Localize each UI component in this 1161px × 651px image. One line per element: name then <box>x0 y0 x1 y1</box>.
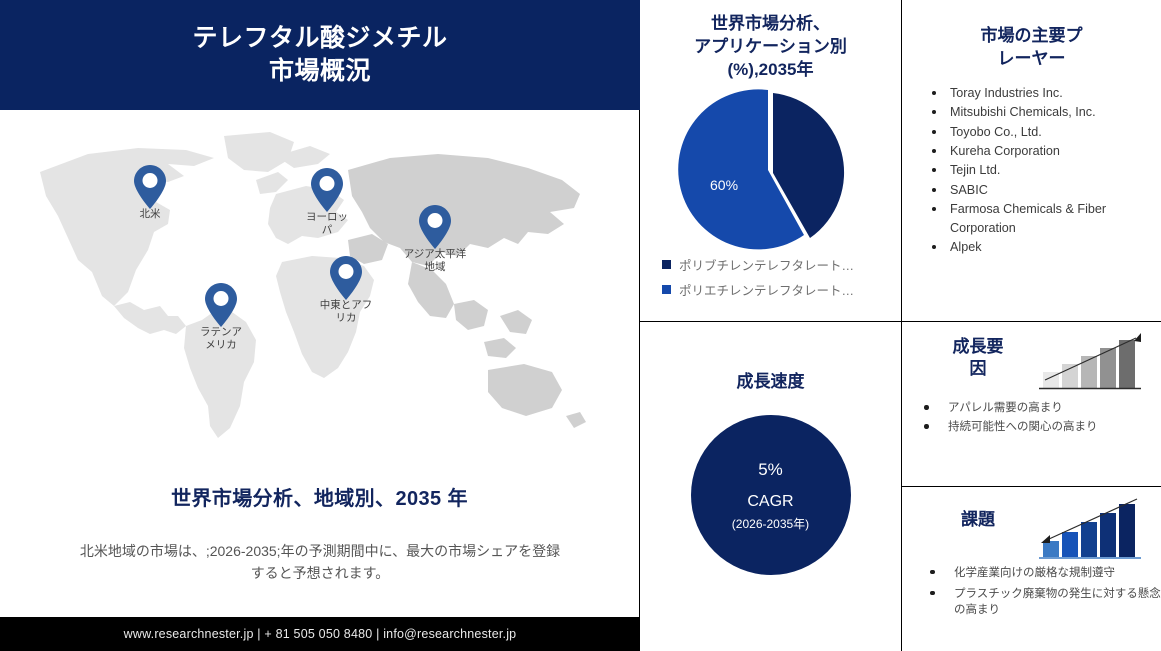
legend-label: ポリブチレンテレフタレート… <box>679 255 854 274</box>
map-pin-label: アジア太平洋地域 <box>400 248 470 274</box>
legend-item[interactable]: ポリブチレンテレフタレート… <box>662 255 888 274</box>
list-item: 持続可能性への関心の高まり <box>902 419 1161 435</box>
pie-slice-value-label: 60% <box>710 177 738 193</box>
challenges-title: 課題 <box>932 509 1024 531</box>
key-players-panel: 市場の主要プ レーヤー Toray Industries Inc. Mitsub… <box>901 0 1161 322</box>
list-item: Tejin Ltd. <box>928 161 1161 180</box>
players-title-line2: レーヤー <box>948 47 1115 70</box>
legend-swatch-icon <box>662 285 671 294</box>
list-item: プラスチック廃棄物の発生に対する懸念の高まり <box>902 586 1161 619</box>
list-item: 化学産業向けの厳格な規制遵守 <box>902 565 1161 581</box>
page-title: テレフタル酸ジメチル 市場概況 <box>192 22 447 89</box>
map-pin-europe[interactable]: ヨーロッパ <box>310 167 344 213</box>
page-title-line2: 市場概況 <box>192 55 447 89</box>
pie-title-line2: アプリケーション別 <box>662 35 879 58</box>
pie-panel-title: 世界市場分析、 アプリケーション別 (%),2035年 <box>662 12 879 81</box>
legend-swatch-icon <box>662 260 671 269</box>
pie-title-line3: (%),2035年 <box>662 58 879 81</box>
list-item: Mitsubishi Chemicals, Inc. <box>928 103 1161 122</box>
challenges-panel: 課題 化学産業向けの厳格な規制遵守 プラスチック廃棄物の発生に対する懸念の高まり <box>902 487 1161 651</box>
map-pin-middle-east-africa[interactable]: 中東とアフリカ <box>329 255 363 301</box>
players-title-line1: 市場の主要プ <box>948 24 1115 47</box>
growth-rate-title: 成長速度 <box>640 370 901 393</box>
drivers-title-line2: 因 <box>932 358 1024 380</box>
pie-title-line1: 世界市場分析、 <box>662 12 879 35</box>
map-pin-label: ヨーロッパ <box>301 211 353 237</box>
growth-drivers-list: アパレル需要の高まり 持続可能性への関心の高まり <box>902 400 1161 436</box>
cagr-circle-wrap: 5% CAGR (2026-2035年) <box>640 415 901 575</box>
pie-legend: ポリブチレンテレフタレート… ポリエチレンテレフタレート… <box>662 255 888 305</box>
region-analysis-heading: 世界市場分析、地域別、2035 年 <box>0 482 639 511</box>
growth-bar-chart-icon <box>1037 328 1147 394</box>
key-players-list: Toray Industries Inc. Mitsubishi Chemica… <box>928 84 1161 257</box>
list-item-continuation: Corporation <box>928 219 1161 238</box>
list-item: Toray Industries Inc. <box>928 84 1161 103</box>
application-pie-panel: 世界市場分析、 アプリケーション別 (%),2035年 60% ポリブチレンテレ… <box>640 0 902 322</box>
left-column: テレフタル酸ジメチル 市場概況 <box>0 0 640 651</box>
map-pin-icon <box>310 167 344 213</box>
list-item: アパレル需要の高まり <box>902 400 1161 416</box>
challenges-list: 化学産業向けの厳格な規制遵守 プラスチック廃棄物の発生に対する懸念の高まり <box>902 565 1161 619</box>
map-pin-icon <box>204 282 238 328</box>
map-pin-icon <box>329 255 363 301</box>
list-item: Farmosa Chemicals & Fiber <box>928 200 1161 219</box>
challenges-bar-chart-icon <box>1037 493 1147 565</box>
map-pin-icon <box>418 204 452 250</box>
map-pin-icon <box>133 164 167 210</box>
legend-label: ポリエチレンテレフタレート… <box>679 280 854 299</box>
players-panel-title: 市場の主要プ レーヤー <box>948 24 1115 70</box>
list-item: SABIC <box>928 181 1161 200</box>
growth-drivers-panel: 成長要 因 アパレル需要の高まり 持続可能性への関心の高まり <box>902 322 1161 487</box>
map-pin-asia-pacific[interactable]: アジア太平洋地域 <box>418 204 452 250</box>
pie-chart: 60% <box>640 85 901 255</box>
world-map: 北米 ヨーロッパ アジア太平洋地域 <box>0 112 639 472</box>
cagr-period: (2026-2035年) <box>732 518 809 530</box>
map-pin-latin-america[interactable]: ラテンアメリカ <box>204 282 238 328</box>
drivers-challenges-stack: 成長要 因 アパレル需要の高まり 持続可能性への関心の高まり <box>901 321 1161 651</box>
cagr-metric-label: CAGR <box>747 494 793 510</box>
infographic-page: テレフタル酸ジメチル 市場概況 <box>0 0 1161 651</box>
list-item: Kureha Corporation <box>928 142 1161 161</box>
cagr-circle: 5% CAGR (2026-2035年) <box>691 415 851 575</box>
growth-rate-panel: 成長速度 5% CAGR (2026-2035年) <box>640 321 902 651</box>
region-analysis-description: 北米地域の市場は、;2026-2035;年の予測期間中に、最大の市場シェアを登録… <box>78 540 562 585</box>
list-item: Alpek <box>928 238 1161 257</box>
drivers-title: 成長要 因 <box>932 336 1024 380</box>
list-item: Toyobo Co., Ltd. <box>928 123 1161 142</box>
footer-contact-text: www.researchnester.jp | + 81 505 050 848… <box>124 627 517 641</box>
cagr-value: 5% <box>758 461 783 478</box>
drivers-header: 成長要 因 <box>902 322 1161 400</box>
hero-banner: テレフタル酸ジメチル 市場概況 <box>0 0 640 110</box>
drivers-title-line1: 成長要 <box>932 336 1024 358</box>
map-pin-label: 中東とアフリカ <box>315 299 377 325</box>
challenges-header: 課題 <box>902 487 1161 565</box>
page-title-line1: テレフタル酸ジメチル <box>192 22 447 56</box>
map-pin-label: ラテンアメリカ <box>199 326 243 352</box>
map-pin-label: 北米 <box>112 208 188 221</box>
map-pin-north-america[interactable]: 北米 <box>133 164 167 210</box>
footer-bar: www.researchnester.jp | + 81 505 050 848… <box>0 617 640 651</box>
legend-item[interactable]: ポリエチレンテレフタレート… <box>662 280 888 299</box>
pie-chart-graphic <box>640 85 900 255</box>
